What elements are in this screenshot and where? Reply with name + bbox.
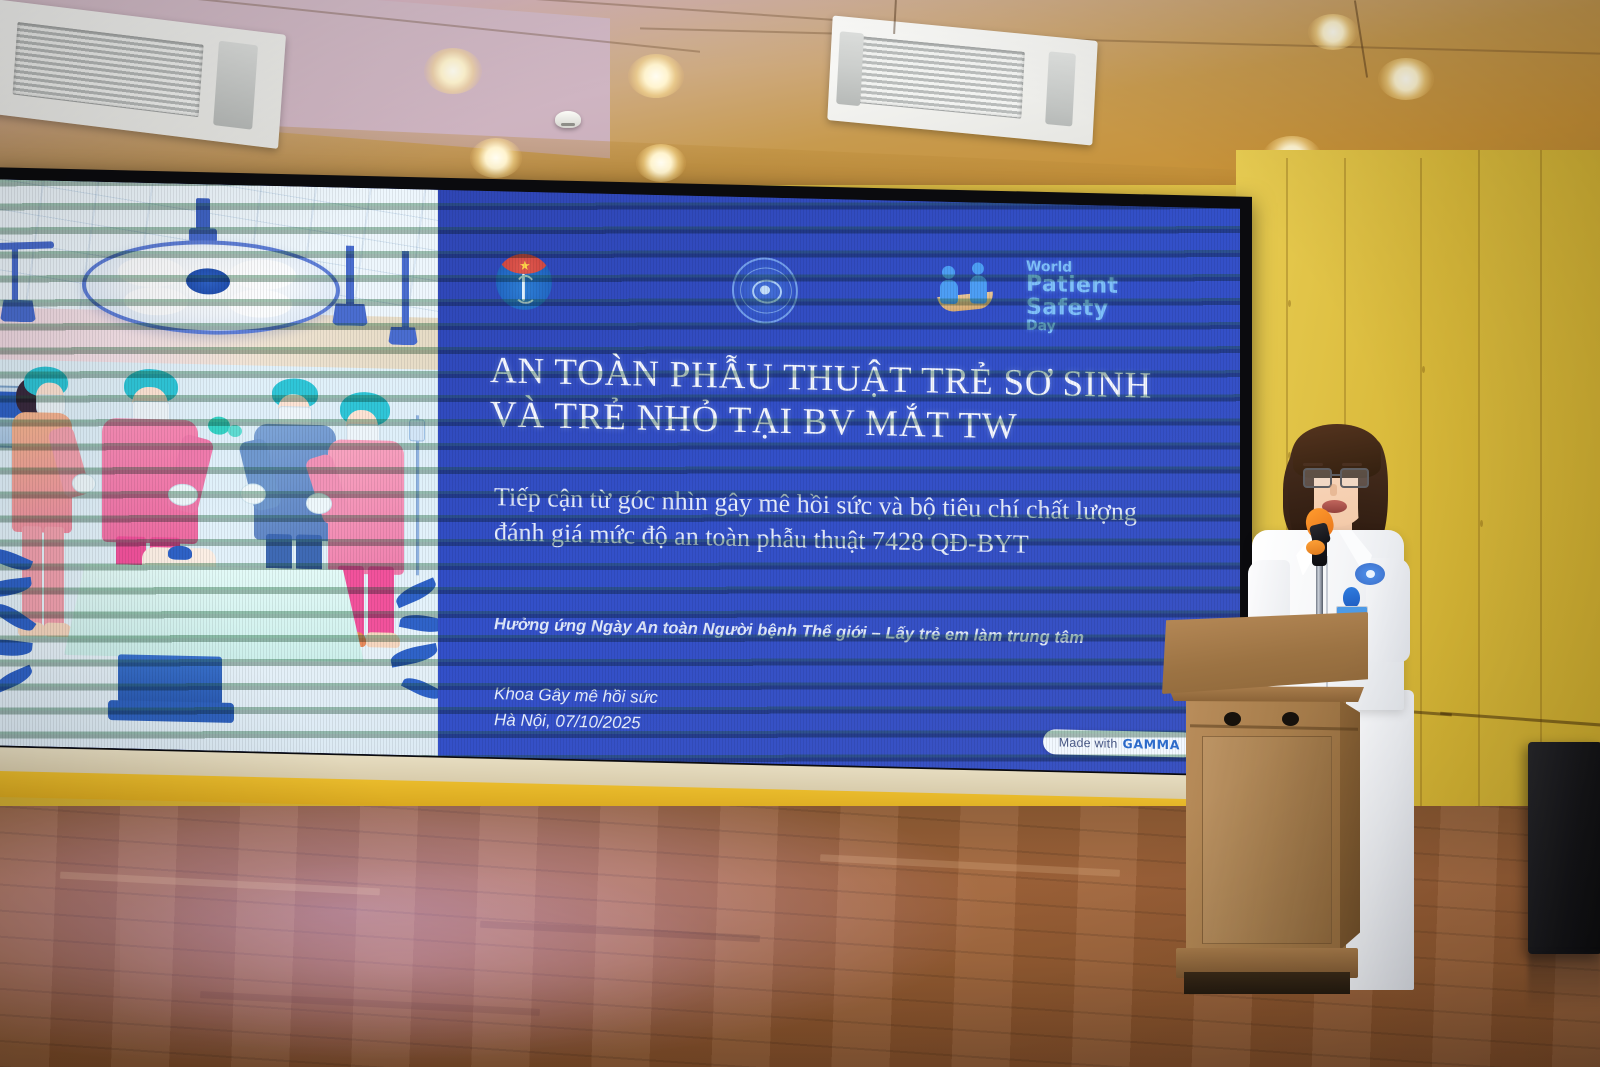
surgical-lamp-stem xyxy=(196,198,210,230)
ceiling-downlight xyxy=(1378,58,1434,100)
ac-vent-slot xyxy=(836,31,864,106)
podium-hole xyxy=(1224,712,1241,726)
presenter-nose xyxy=(1330,484,1337,496)
speaker-reflection xyxy=(1528,952,1600,1010)
gamma-prefix: Made with xyxy=(1059,735,1118,750)
podium-hole xyxy=(1282,712,1299,726)
ceiling-downlight xyxy=(470,138,522,178)
wood-knot xyxy=(1480,520,1483,527)
operating-table xyxy=(64,563,364,662)
hospital-eye-logo-patch xyxy=(1355,563,1385,585)
slide-place-date: Hà Nội, 07/10/2025 xyxy=(494,707,658,737)
wpsd-line-2: Patient Safety xyxy=(1026,274,1194,323)
operating-table-foot xyxy=(108,700,234,723)
slide-logo-row: ★ xyxy=(496,253,1176,327)
patient-cap xyxy=(168,545,192,560)
eyeglasses-icon xyxy=(1340,468,1369,488)
slide-subtitle: Tiếp cận từ góc nhìn gây mê hồi sức và b… xyxy=(494,479,1154,565)
slide-footer: Khoa Gây mê hồi sức Hà Nội, 07/10/2025 xyxy=(494,681,658,738)
slide-department: Khoa Gây mê hồi sức xyxy=(494,681,658,711)
eyeglasses-icon xyxy=(1303,468,1332,488)
wood-knot xyxy=(1288,300,1291,307)
slide-text-panel: ★ xyxy=(438,190,1240,775)
lamp-hub xyxy=(186,268,230,295)
ceiling-downlight xyxy=(424,48,482,94)
microphone-grille xyxy=(1306,540,1325,555)
floor-speaker xyxy=(1528,742,1600,954)
person-head-icon xyxy=(972,262,984,274)
wood-knot xyxy=(1422,366,1425,373)
presentation-hall-photo: ★ xyxy=(0,0,1600,1067)
ac-vent-slot xyxy=(1045,51,1075,127)
stage-light-reflection xyxy=(120,860,740,1060)
ceiling-downlight xyxy=(636,144,686,182)
ceiling-arm xyxy=(402,251,409,329)
eyeglasses-bridge xyxy=(1330,474,1340,476)
star-icon: ★ xyxy=(519,259,531,272)
ceiling-arm-head xyxy=(332,303,368,326)
ac-grille xyxy=(13,22,204,118)
wall-plank-seam xyxy=(1420,158,1422,858)
eye-pupil xyxy=(760,285,770,294)
blue-ribbon-pin xyxy=(1343,587,1360,608)
iv-bag xyxy=(409,419,425,441)
presenter-eyebrow xyxy=(1342,463,1362,466)
gamma-brand: GAMMA xyxy=(1123,736,1181,752)
presenter-eyebrow xyxy=(1303,463,1323,466)
ceiling-arm xyxy=(346,246,354,306)
led-screen[interactable]: ★ xyxy=(0,179,1240,774)
operating-table-base xyxy=(118,654,222,704)
podium-side xyxy=(1340,700,1360,950)
wpsd-line-3: Day xyxy=(1026,319,1194,337)
wall-plank-seam xyxy=(1478,150,1480,860)
air-conditioner-unit xyxy=(827,16,1098,146)
podium-front-panel xyxy=(1202,736,1332,944)
ac-grille xyxy=(857,36,1025,119)
ceiling-seam xyxy=(640,27,1600,54)
ceiling-downlight xyxy=(628,54,684,98)
made-with-gamma-badge[interactable]: Made with GAMMA xyxy=(1043,729,1196,758)
ac-vent-slot xyxy=(213,40,258,129)
ceiling-downlight xyxy=(1308,14,1358,50)
person-head-icon xyxy=(942,266,955,279)
world-patient-safety-day-logo: World Patient Safety Day xyxy=(934,260,1194,330)
slide-tagline: Hưởng ứng Ngày An toàn Người bệnh Thế gi… xyxy=(494,615,1174,650)
ceiling-arm-head xyxy=(388,327,418,346)
operating-room-illustration xyxy=(0,179,438,756)
person-body-icon xyxy=(970,275,987,303)
wpsd-wordmark: World Patient Safety Day xyxy=(1026,260,1194,337)
ceiling-arm-head xyxy=(0,300,36,323)
snake-icon xyxy=(514,275,537,305)
presentation-slide: ★ xyxy=(0,179,1240,774)
rod-of-asclepius-icon xyxy=(522,274,525,301)
ministry-of-health-logo: ★ xyxy=(496,253,552,310)
ceiling-arm xyxy=(12,246,18,302)
slide-title: AN TOÀN PHẪU THUẬT TRẺ SƠ SINH VÀ TRẺ NH… xyxy=(490,349,1190,453)
person-body-icon xyxy=(940,280,958,304)
podium-plinth xyxy=(1184,972,1350,994)
anesthesia-bag xyxy=(208,416,230,435)
eye-hospital-logo xyxy=(732,257,798,325)
smoke-detector-icon xyxy=(555,111,581,128)
anesthesia-bag xyxy=(228,425,242,437)
